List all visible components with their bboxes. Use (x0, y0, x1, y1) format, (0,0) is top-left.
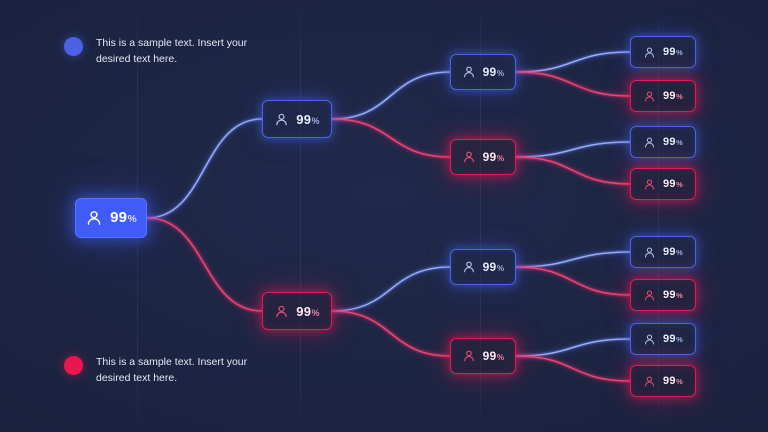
person-icon (643, 333, 656, 346)
gridline-1 (300, 0, 301, 432)
connector-link-l2pa-l3p2 (516, 157, 630, 184)
node-percent-value: 99% (483, 66, 505, 78)
person-icon (643, 289, 656, 302)
node-percent-symbol: % (497, 154, 504, 163)
node-value-number: 99 (663, 136, 676, 148)
connector-link-l1blue-l2pa (332, 119, 450, 157)
connector-glow-link-l2b-l3b3 (516, 252, 630, 267)
person-icon (462, 65, 476, 79)
tree-node-l1-pink[interactable]: 99% (262, 292, 332, 330)
connector-glow-link-l2pa-l3p2 (516, 157, 630, 184)
person-icon (462, 260, 476, 274)
circle-dot-icon (64, 37, 83, 56)
connector-link-l2pb-l3p4 (516, 356, 630, 381)
person-icon (643, 289, 656, 302)
node-percent-value: 99% (663, 376, 683, 387)
node-value-number: 99 (483, 65, 497, 79)
tree-node-l2-blue-a[interactable]: 99% (450, 54, 516, 90)
node-percent-symbol: % (676, 248, 683, 257)
person-icon (643, 375, 656, 388)
connector-link-l2a-l3b1 (516, 52, 630, 72)
tree-node-l3-blue-2[interactable]: 99% (630, 126, 696, 158)
connector-glow-link-root-l1blue (147, 119, 262, 218)
connector-glow-link-l1pink-l2pb (332, 311, 450, 356)
node-value-number: 99 (663, 375, 676, 387)
node-percent-symbol: % (312, 308, 320, 318)
node-value-number: 99 (483, 260, 497, 274)
connector-glow-link-l2pa-l3b2 (516, 142, 630, 157)
legend-text: This is a sample text. Insert your desir… (96, 36, 278, 68)
person-icon (462, 349, 476, 363)
connector-link-l2b-l3b3 (516, 252, 630, 267)
node-percent-value: 99% (663, 290, 683, 301)
node-percent-symbol: % (497, 264, 504, 273)
connector-link-l1pink-l2b (332, 267, 450, 311)
connector-link-l2pb-l3b4 (516, 339, 630, 356)
node-value-number: 99 (483, 150, 497, 164)
person-icon (274, 304, 289, 319)
node-percent-value: 99% (663, 179, 683, 190)
node-percent-symbol: % (676, 180, 683, 189)
tree-node-l1-blue[interactable]: 99% (262, 100, 332, 138)
node-percent-value: 99% (483, 350, 505, 362)
circle-dot-icon (64, 356, 83, 375)
node-percent-symbol: % (676, 291, 683, 300)
node-percent-symbol: % (497, 353, 504, 362)
person-icon (85, 209, 103, 227)
connector-glow-link-l2a-l3b1 (516, 52, 630, 72)
connector-link-l2pa-l3b2 (516, 142, 630, 157)
node-percent-value: 99% (663, 334, 683, 345)
person-icon (643, 136, 656, 149)
person-icon (462, 150, 476, 164)
person-icon (643, 90, 656, 103)
node-percent-symbol: % (676, 48, 683, 57)
node-value-number: 99 (663, 178, 676, 190)
person-icon (643, 246, 656, 259)
node-percent-value: 99% (663, 137, 683, 148)
person-icon (462, 150, 476, 164)
node-value-number: 99 (663, 333, 676, 345)
node-percent-value: 99% (663, 247, 683, 258)
connector-glow-link-l2pb-l3p4 (516, 356, 630, 381)
node-percent-value: 99% (663, 47, 683, 58)
person-icon (643, 178, 656, 191)
node-value-number: 99 (110, 209, 127, 226)
connector-link-l1pink-l2pb (332, 311, 450, 356)
person-icon (643, 246, 656, 259)
person-icon (462, 65, 476, 79)
connector-link-l1blue-l2a (332, 72, 450, 119)
node-percent-symbol: % (676, 335, 683, 344)
connector-link-l2b-l3p3 (516, 267, 630, 295)
connector-glow-link-l2b-l3p3 (516, 267, 630, 295)
tree-node-l3-pink-3[interactable]: 99% (630, 279, 696, 311)
tree-node-l3-pink-1[interactable]: 99% (630, 80, 696, 112)
person-icon (85, 209, 103, 227)
node-value-number: 99 (296, 112, 311, 127)
node-value-number: 99 (663, 90, 676, 102)
tree-node-l3-blue-4[interactable]: 99% (630, 323, 696, 355)
connector-glow-link-l1blue-l2pa (332, 119, 450, 157)
connector-link-root-l1blue (147, 119, 262, 218)
node-percent-value: 99% (296, 305, 319, 318)
node-value-number: 99 (296, 304, 311, 319)
node-value-number: 99 (663, 289, 676, 301)
legend-item-pink: This is a sample text. Insert your desir… (64, 355, 278, 387)
node-percent-symbol: % (128, 214, 137, 225)
connector-glow-link-l1blue-l2a (332, 72, 450, 119)
node-percent-symbol: % (312, 116, 320, 126)
tree-node-l2-blue-b[interactable]: 99% (450, 249, 516, 285)
tree-node-l3-blue-3[interactable]: 99% (630, 236, 696, 268)
node-value-number: 99 (663, 246, 676, 258)
tree-node-l2-pink-b[interactable]: 99% (450, 338, 516, 374)
person-icon (643, 178, 656, 191)
person-icon (274, 112, 289, 127)
tree-node-l3-pink-4[interactable]: 99% (630, 365, 696, 397)
person-icon (462, 349, 476, 363)
node-value-number: 99 (483, 349, 497, 363)
node-percent-value: 99% (483, 151, 505, 163)
connector-link-l2a-l3p1 (516, 72, 630, 96)
node-percent-value: 99% (663, 91, 683, 102)
tree-node-l3-blue-1[interactable]: 99% (630, 36, 696, 68)
node-percent-symbol: % (676, 138, 683, 147)
legend-text: This is a sample text. Insert your desir… (96, 355, 278, 387)
diagram-canvas: 99%99%99%99%99%99%99%99%99%99%99%99%99%9… (0, 0, 768, 432)
node-value-number: 99 (663, 46, 676, 58)
node-percent-symbol: % (676, 92, 683, 101)
connector-glow-link-root-l1pink (147, 218, 262, 311)
connector-link-root-l1pink (147, 218, 262, 311)
person-icon (462, 260, 476, 274)
person-icon (274, 112, 289, 127)
person-icon (274, 304, 289, 319)
connector-glow-link-l2a-l3p1 (516, 72, 630, 96)
tree-node-root[interactable]: 99% (75, 198, 147, 238)
person-icon (643, 333, 656, 346)
tree-node-l2-pink-a[interactable]: 99% (450, 139, 516, 175)
person-icon (643, 46, 656, 59)
node-percent-symbol: % (497, 69, 504, 78)
person-icon (643, 375, 656, 388)
node-percent-symbol: % (676, 377, 683, 386)
person-icon (643, 90, 656, 103)
legend-item-blue: This is a sample text. Insert your desir… (64, 36, 278, 68)
person-icon (643, 46, 656, 59)
node-percent-value: 99% (483, 261, 505, 273)
node-percent-value: 99% (110, 210, 137, 225)
connector-glow-link-l1pink-l2b (332, 267, 450, 311)
connector-glow-link-l2pb-l3b4 (516, 339, 630, 356)
person-icon (643, 136, 656, 149)
tree-node-l3-pink-2[interactable]: 99% (630, 168, 696, 200)
node-percent-value: 99% (296, 113, 319, 126)
